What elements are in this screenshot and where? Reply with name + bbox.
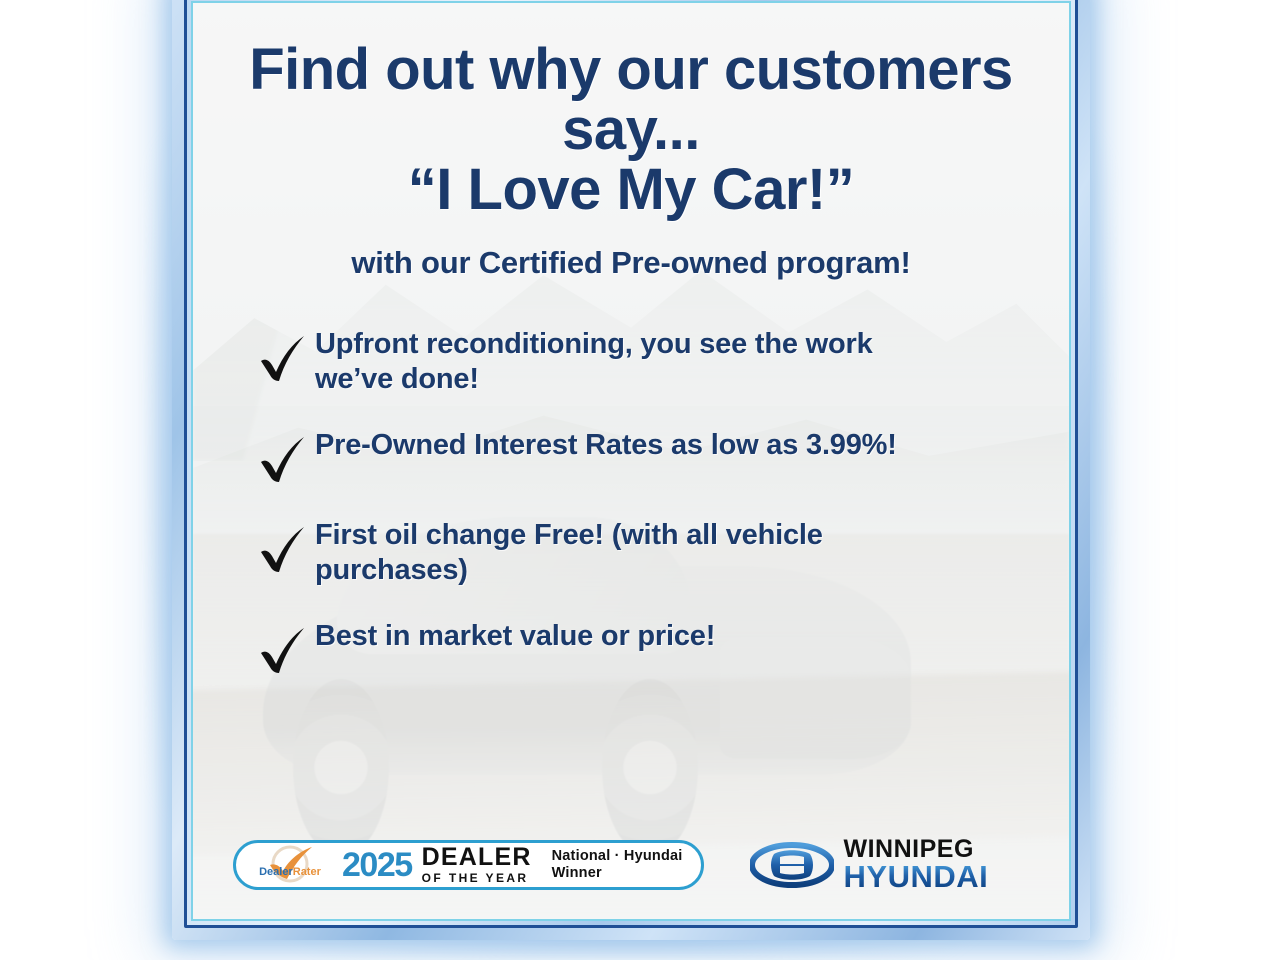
list-item-label: First oil change Free! (with all vehicle… xyxy=(315,516,955,589)
decorative-frame: Find out why our customers say... “I Lov… xyxy=(172,0,1090,940)
award-year: 2025 xyxy=(342,848,412,882)
svg-text:DealerRater: DealerRater xyxy=(259,866,321,878)
poster-content: Find out why our customers say... “I Lov… xyxy=(193,3,1069,919)
dealership-logo: WINNIPEG HYUNDAI xyxy=(750,838,989,891)
award-winner-detail: National · Hyundai Winner xyxy=(552,848,683,882)
dealer-word: DEALER xyxy=(422,845,532,870)
check-icon xyxy=(255,331,311,387)
poster-canvas: Find out why our customers say... “I Lov… xyxy=(193,3,1069,919)
frame-inner-edge: Find out why our customers say... “I Lov… xyxy=(191,1,1071,921)
winner-line-2: Winner xyxy=(552,865,683,882)
dealer-rater-logo-icon: DealerRater xyxy=(248,845,332,885)
headline-line-1: Find out why our customers xyxy=(221,41,1041,99)
dealership-brand: HYUNDAI xyxy=(844,862,989,891)
frame-inner-bevel: Find out why our customers say... “I Lov… xyxy=(184,0,1078,928)
footer-badges: DealerRater 2025 DEALER OF THE YEAR xyxy=(233,838,1047,891)
list-item: Pre-Owned Interest Rates as low as 3.99%… xyxy=(255,426,1041,488)
check-icon xyxy=(255,623,311,679)
of-the-year-word: OF THE YEAR xyxy=(422,872,532,884)
list-item: Upfront reconditioning, you see the work… xyxy=(255,325,1041,398)
headline-line-3: “I Love My Car!” xyxy=(221,161,1041,219)
dealer-of-the-year-wordmark: DEALER OF THE YEAR xyxy=(422,845,532,884)
hyundai-logo-icon xyxy=(750,842,834,888)
sub-headline: with our Certified Pre-owned program! xyxy=(221,245,1041,281)
poster-stage: Find out why our customers say... “I Lov… xyxy=(0,0,1280,960)
list-item-label: Upfront reconditioning, you see the work… xyxy=(315,325,955,398)
check-icon xyxy=(255,522,311,578)
list-item: First oil change Free! (with all vehicle… xyxy=(255,516,1041,589)
list-item: Best in market value or price! xyxy=(255,617,1041,679)
check-icon xyxy=(255,432,311,488)
benefits-list: Upfront reconditioning, you see the work… xyxy=(221,325,1041,679)
headline-line-2: say... xyxy=(221,101,1041,159)
dealership-wordmark: WINNIPEG HYUNDAI xyxy=(844,838,989,891)
list-item-label: Pre-Owned Interest Rates as low as 3.99%… xyxy=(315,426,897,463)
list-item-label: Best in market value or price! xyxy=(315,617,715,654)
dealer-rater-award-badge: DealerRater 2025 DEALER OF THE YEAR xyxy=(233,840,704,890)
winner-line-1: National · Hyundai xyxy=(552,848,683,865)
